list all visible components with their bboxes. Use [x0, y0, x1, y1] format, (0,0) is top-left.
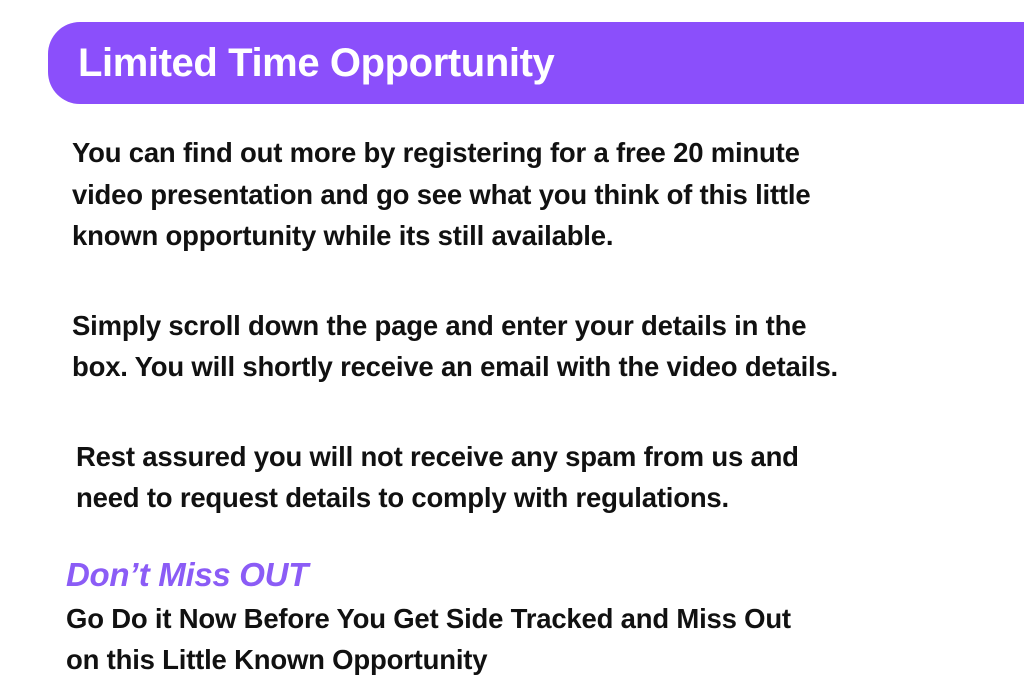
closing-call-to-action: Go Do it Now Before You Get Side Tracked…: [66, 598, 1024, 680]
paragraph-3-line-2: need to request details to comply with r…: [76, 477, 1024, 519]
paragraph-1-line-2: video presentation and go see what you t…: [72, 174, 1024, 216]
closing-line-2: on this Little Known Opportunity: [66, 639, 1024, 680]
body-copy: You can find out more by registering for…: [0, 118, 1024, 680]
closing-tagline: Don’t Miss OUT: [66, 555, 1024, 595]
paragraph-1: You can find out more by registering for…: [72, 132, 1024, 257]
paragraph-3: Rest assured you will not receive any sp…: [76, 436, 1024, 519]
paragraph-1-line-3: known opportunity while its still availa…: [72, 215, 1024, 257]
page-title: Limited Time Opportunity: [78, 43, 554, 83]
header-banner: Limited Time Opportunity: [48, 22, 1024, 104]
slide-canvas: Limited Time Opportunity You can find ou…: [0, 0, 1024, 683]
paragraph-3-line-1: Rest assured you will not receive any sp…: [76, 436, 1024, 478]
paragraph-1-line-1: You can find out more by registering for…: [72, 132, 1024, 174]
paragraph-2-line-1: Simply scroll down the page and enter yo…: [72, 305, 1024, 347]
paragraph-2: Simply scroll down the page and enter yo…: [72, 305, 1024, 388]
closing-block: Don’t Miss OUT Go Do it Now Before You G…: [66, 555, 1024, 680]
closing-line-1: Go Do it Now Before You Get Side Tracked…: [66, 598, 1024, 639]
paragraph-2-line-2: box. You will shortly receive an email w…: [72, 346, 1024, 388]
